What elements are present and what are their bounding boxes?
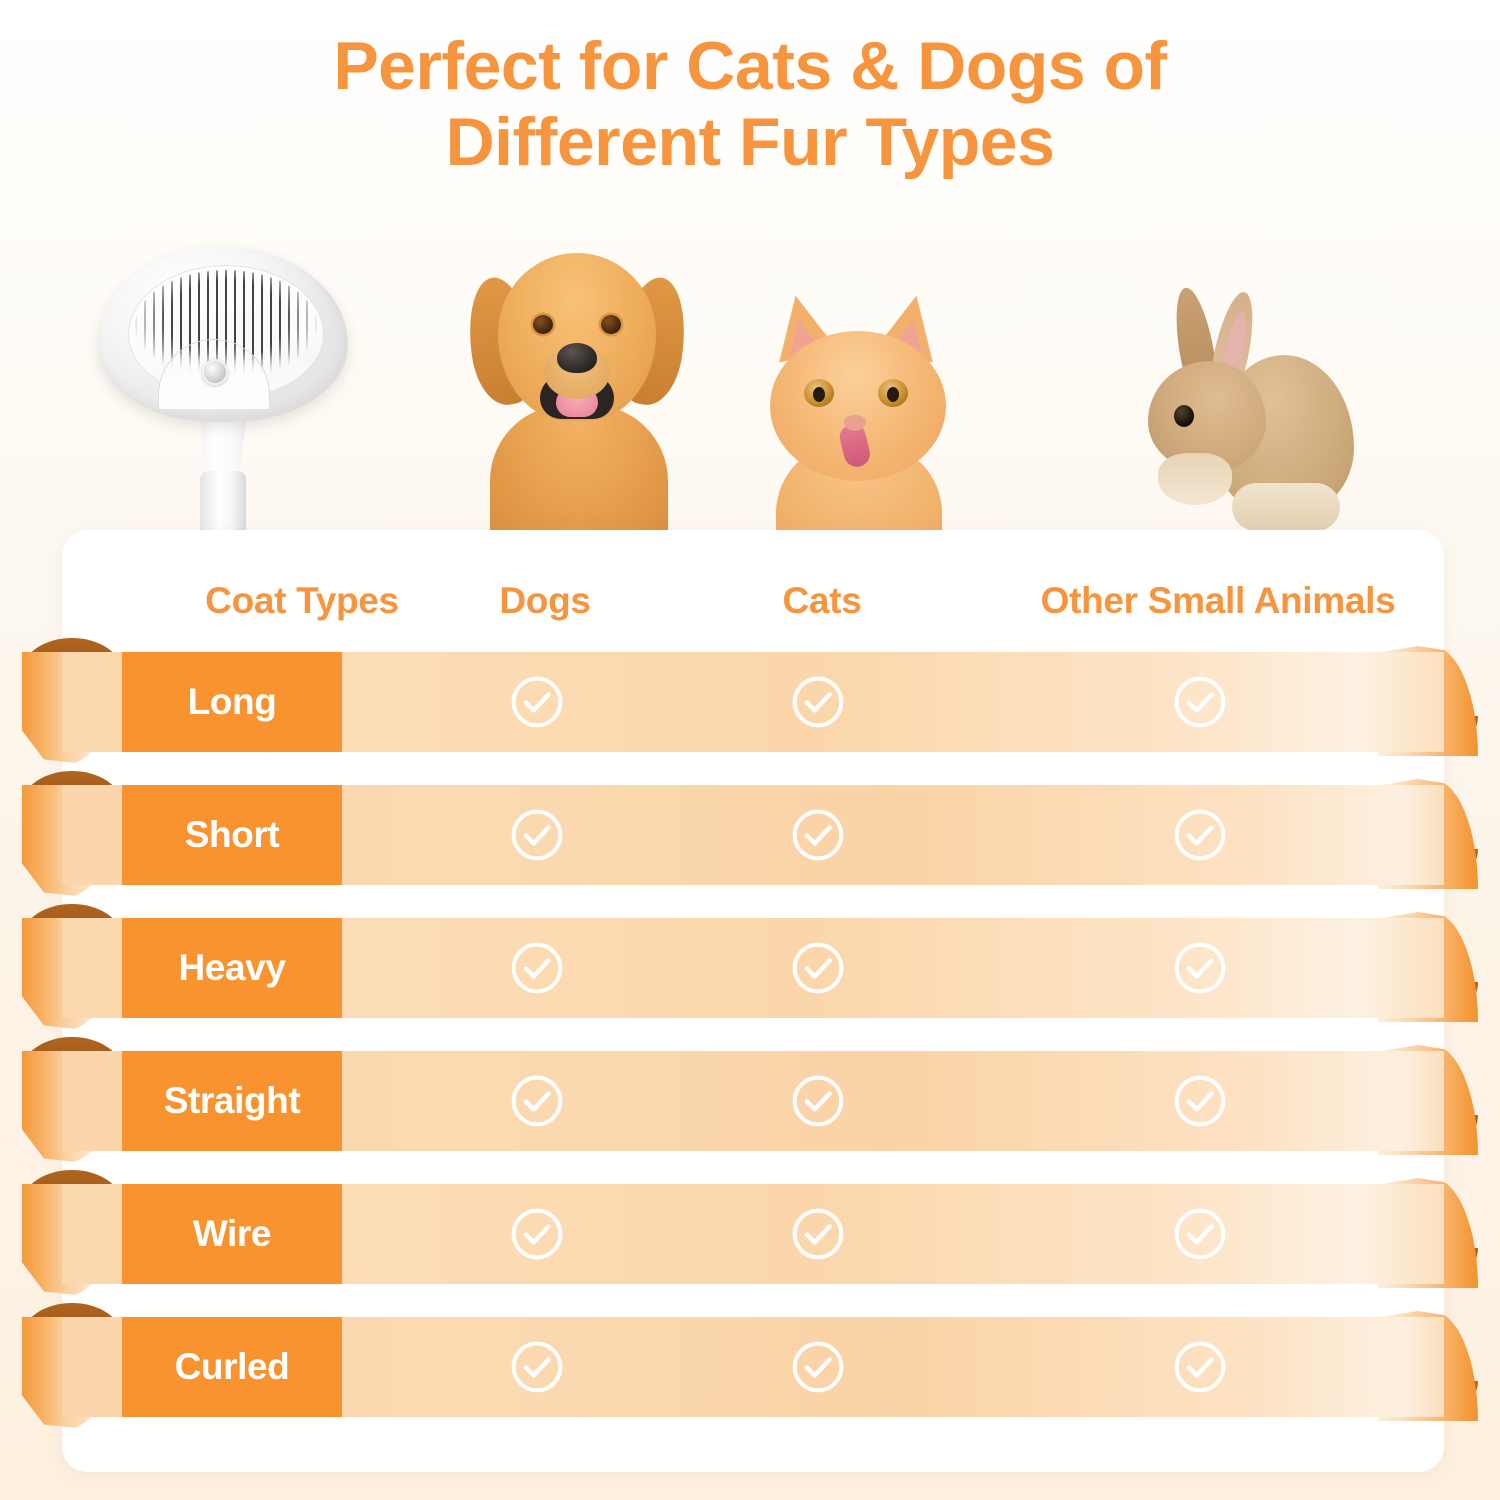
check-circle-icon xyxy=(1172,1339,1228,1395)
table-header-dogs: Dogs xyxy=(499,580,590,622)
check-circle-icon xyxy=(1172,1073,1228,1129)
cell-heavy-dogs xyxy=(487,918,587,1018)
dog-eye-left xyxy=(533,315,553,334)
coat-type-text: Short xyxy=(185,814,280,856)
table-header-coat-types: Coat Types xyxy=(205,580,399,622)
coat-type-label-wire: Wire xyxy=(122,1184,342,1284)
rabbit-eye xyxy=(1174,405,1194,427)
cell-short-other xyxy=(1150,785,1250,885)
dog-body xyxy=(490,405,668,537)
cat-pupil-left xyxy=(813,387,825,402)
check-circle-icon xyxy=(509,1073,565,1129)
cat-pupil-right xyxy=(887,387,899,402)
cell-short-cats xyxy=(768,785,868,885)
table-row: Straight xyxy=(0,1019,1500,1151)
table-body: LongShortHeavyStraightWireCurled xyxy=(0,620,1500,1490)
table-row: Heavy xyxy=(0,886,1500,1018)
table-row: Curled xyxy=(0,1285,1500,1417)
check-circle-icon xyxy=(1172,940,1228,996)
table-row: Wire xyxy=(0,1152,1500,1284)
coat-type-text: Long xyxy=(188,681,277,723)
coat-type-label-heavy: Heavy xyxy=(122,918,342,1018)
cell-wire-cats xyxy=(768,1184,868,1284)
dog-nose xyxy=(557,343,597,373)
check-circle-icon xyxy=(790,940,846,996)
check-circle-icon xyxy=(509,807,565,863)
cell-straight-cats xyxy=(768,1051,868,1151)
table-header-cats: Cats xyxy=(783,580,862,622)
cat-eye-right xyxy=(878,379,908,407)
cell-wire-dogs xyxy=(487,1184,587,1284)
coat-type-text: Straight xyxy=(164,1080,301,1122)
cell-long-cats xyxy=(768,652,868,752)
check-circle-icon xyxy=(1172,807,1228,863)
coat-type-label-straight: Straight xyxy=(122,1051,342,1151)
check-circle-icon xyxy=(790,1073,846,1129)
cell-heavy-cats xyxy=(768,918,868,1018)
cell-wire-other xyxy=(1150,1184,1250,1284)
cell-long-other xyxy=(1150,652,1250,752)
cell-long-dogs xyxy=(487,652,587,752)
table-row: Long xyxy=(0,620,1500,752)
rabbit-chin xyxy=(1158,453,1232,505)
brush-release-button xyxy=(202,359,228,385)
cell-curled-dogs xyxy=(487,1317,587,1417)
coat-type-label-short: Short xyxy=(122,785,342,885)
cell-straight-dogs xyxy=(487,1051,587,1151)
cell-straight-other xyxy=(1150,1051,1250,1151)
rabbit-photo xyxy=(1122,287,1352,539)
table-row: Short xyxy=(0,753,1500,885)
hero-image-row xyxy=(0,215,1500,535)
cell-curled-other xyxy=(1150,1317,1250,1417)
dog-photo xyxy=(432,223,722,535)
page-title: Perfect for Cats & Dogs of Different Fur… xyxy=(0,28,1500,180)
check-circle-icon xyxy=(509,674,565,730)
brush-head xyxy=(98,247,348,422)
coat-type-label-curled: Curled xyxy=(122,1317,342,1417)
dog-eye-right xyxy=(601,315,621,334)
coat-type-text: Heavy xyxy=(178,947,285,989)
product-brush-image xyxy=(88,233,358,533)
coat-type-text: Wire xyxy=(193,1213,271,1255)
rabbit-foot xyxy=(1232,483,1340,531)
check-circle-icon xyxy=(1172,1206,1228,1262)
coat-type-text: Curled xyxy=(175,1346,290,1388)
page-title-line-2: Different Fur Types xyxy=(0,104,1500,180)
page-title-line-1: Perfect for Cats & Dogs of xyxy=(0,28,1500,104)
check-circle-icon xyxy=(790,674,846,730)
cat-photo xyxy=(752,293,964,543)
cell-heavy-other xyxy=(1150,918,1250,1018)
cell-curled-cats xyxy=(768,1317,868,1417)
check-circle-icon xyxy=(790,807,846,863)
check-circle-icon xyxy=(790,1206,846,1262)
check-circle-icon xyxy=(790,1339,846,1395)
coat-type-label-long: Long xyxy=(122,652,342,752)
table-header-other-small-animals: Other Small Animals xyxy=(1041,580,1396,622)
check-circle-icon xyxy=(509,1206,565,1262)
cat-eye-left xyxy=(804,379,834,407)
cell-short-dogs xyxy=(487,785,587,885)
check-circle-icon xyxy=(509,940,565,996)
check-circle-icon xyxy=(1172,674,1228,730)
check-circle-icon xyxy=(509,1339,565,1395)
